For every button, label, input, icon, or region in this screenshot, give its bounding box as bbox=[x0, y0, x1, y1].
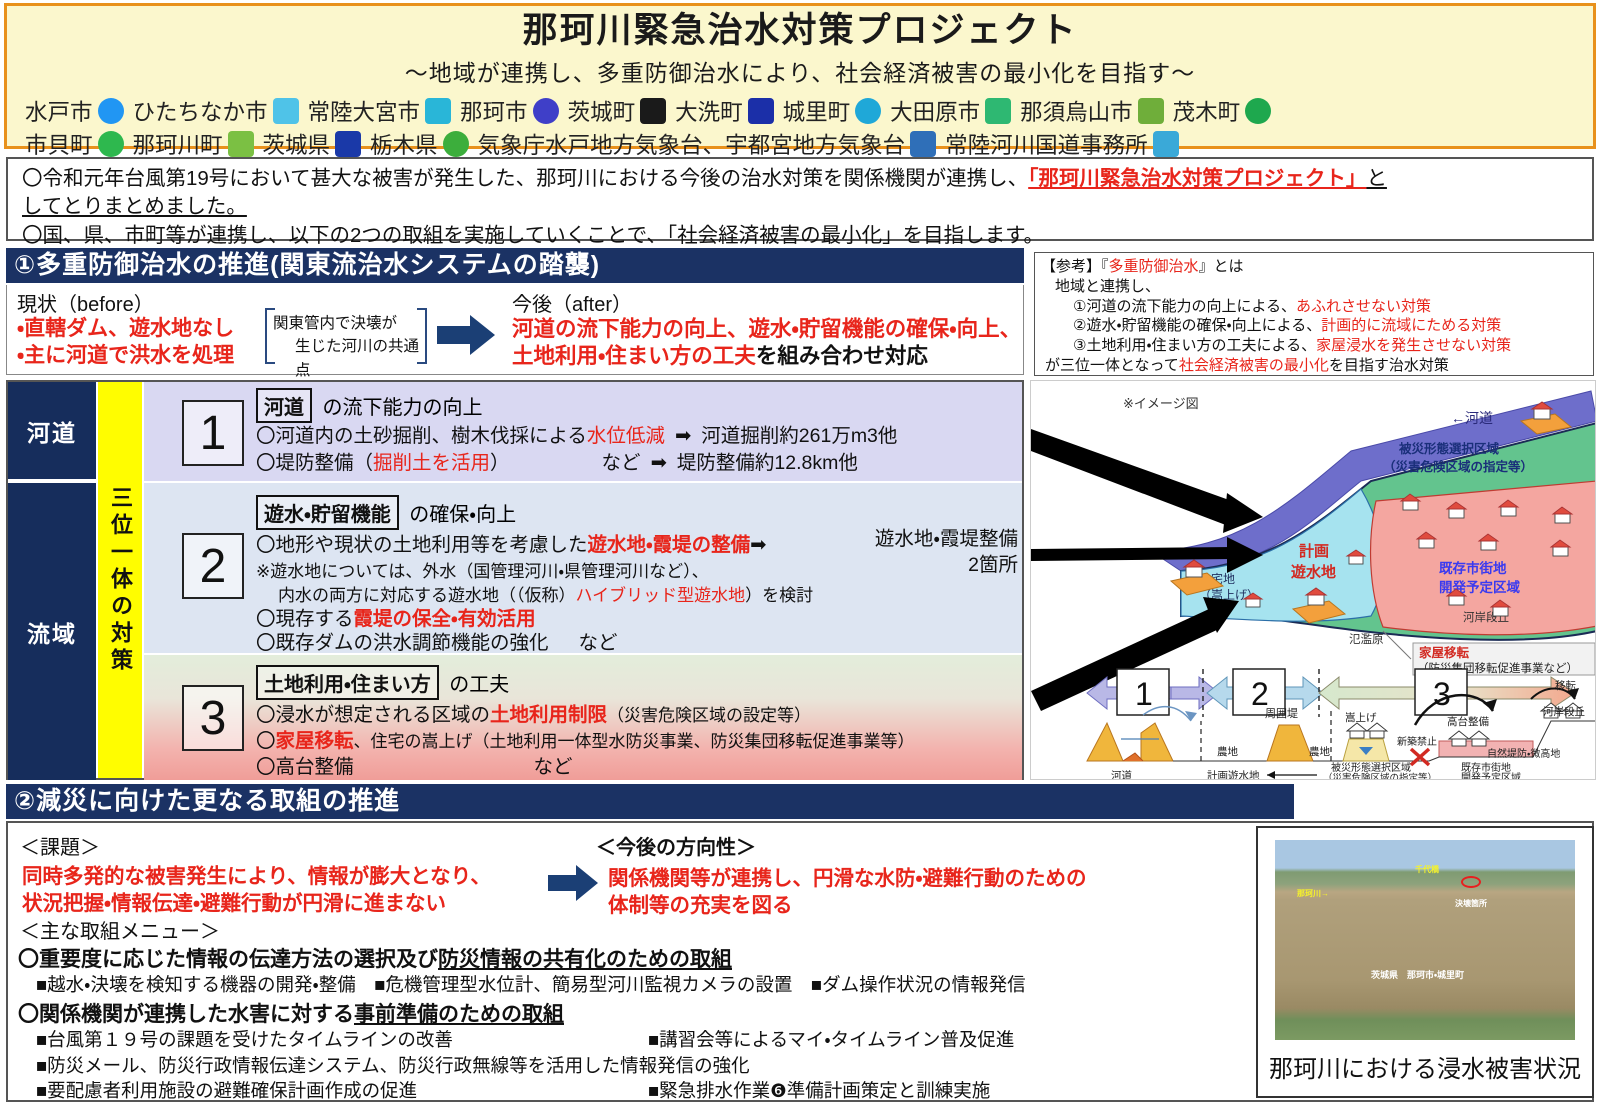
breach-highlight-circle bbox=[1461, 876, 1481, 888]
photo-caption: 那珂川における浸水被害状況 bbox=[1269, 1049, 1581, 1084]
disaster-zone-label-1: 被災形態選択区域 bbox=[1398, 441, 1500, 456]
org-name-motegi-town-logo: 茂木町 bbox=[1173, 95, 1241, 127]
reference-item-2-black: ②遊水・貯留機能の確保・向上による、 bbox=[1073, 317, 1321, 334]
direction-line-1: 関係機関等が連携し、円滑な水防・避難行動のための bbox=[608, 861, 1086, 891]
intro-line-2: してとりまとめました。 bbox=[22, 193, 247, 221]
cs-hisai-zone-2: （災害危険区域の指定等） bbox=[1323, 772, 1437, 780]
reference-lead: 地域と連携し、 bbox=[1041, 277, 1589, 297]
org-name-ibaraki-pref-logo: 茨城県 bbox=[263, 128, 331, 160]
menu-label: ＜主な取組メニュー＞ bbox=[20, 915, 220, 944]
reference-item-3-red: 家屋浸水を発生させない対策 bbox=[1316, 337, 1511, 354]
jma-logo-icon bbox=[910, 131, 936, 157]
measures-table: 河道 流域 三位一体の対策 1 河道 の流下能力の向上 〇河道内の土砂掘削、樹木… bbox=[6, 380, 1024, 780]
section2-banner: ②減災に向けた更なる取組の推進 bbox=[6, 784, 1294, 819]
page-subtitle: 〜地域が連携し、多重防御治水により、社会経済被害の最小化を目指す〜 bbox=[7, 51, 1593, 88]
m1l2-red: 掘削土を活用 bbox=[373, 452, 490, 474]
group2-item-2: ■講習会等によるマイ・タイムライン普及促進 bbox=[648, 1026, 1014, 1052]
measure-row-2: 2 遊水・貯留機能 の確保・向上 〇地形や現状の土地利用等を考慮した遊水地・霞堤… bbox=[144, 483, 1022, 653]
m2l2-black: 〇現存する bbox=[256, 608, 354, 630]
issue-to-direction-arrow-icon bbox=[548, 865, 598, 901]
issue-label: ＜課題＞ bbox=[20, 831, 100, 860]
category-kadou: 河道 bbox=[8, 382, 96, 481]
reference-box: 【参考】『多重防御治水』とは 地域と連携し、 ①河道の流下能力の向上による、あふ… bbox=[1034, 252, 1594, 376]
m2n2-a: 内水の両方に対応する遊水地（（仮称） bbox=[278, 586, 576, 605]
m2l3-black: 〇既存ダムの洪水調節機能の強化 bbox=[256, 632, 549, 654]
disaster-zone-label-2: （災害危険区域の指定等） bbox=[1383, 459, 1533, 474]
naka-city-logo-icon bbox=[533, 98, 559, 124]
zone-number-1: 1 bbox=[1135, 676, 1153, 712]
floodplain-label: 氾濫原 bbox=[1349, 633, 1384, 646]
project-name-highlight: 「那珂川緊急治水対策プロジェクト」 bbox=[1028, 167, 1366, 190]
reference-title: 【参考】『多重防御治水』とは bbox=[1041, 257, 1589, 277]
reference-title-b: 』とは bbox=[1199, 258, 1244, 275]
m2l1-arrow-icon: ➡ bbox=[750, 534, 766, 556]
group2-heading-a: 〇関係機関が連携した水害に対する bbox=[18, 1003, 354, 1026]
photo-breach-label: 決壊箇所 bbox=[1455, 898, 1487, 909]
measure-3-heading: 土地利用・住まい方 の工夫 bbox=[256, 665, 509, 700]
after-line-2-red: 土地利用・住まい方の工夫 bbox=[512, 344, 756, 368]
org-name-tochigi-pref-logo: 栃木県 bbox=[370, 128, 438, 160]
ichikai-town-logo-icon bbox=[98, 131, 124, 157]
measure-row-3: 3 土地利用・住まい方 の工夫 〇浸水が想定される区域の土地利用制限（災害危険区… bbox=[144, 655, 1022, 780]
shirosato-town-logo-icon bbox=[855, 98, 881, 124]
m1l1-red: 水位低減 bbox=[587, 425, 665, 447]
m3l3-black: 〇高台整備 bbox=[256, 756, 354, 778]
logo-row-2: 市貝町那珂川町茨城県栃木県気象庁水戸地方気象台、宇都宮地方気象台常陸河川国道事務… bbox=[25, 127, 1575, 160]
m1l1-black: 〇河道内の土砂掘削、樹木伐採による bbox=[256, 425, 587, 447]
before-item-2: ・主に河道で洪水を処理 bbox=[17, 339, 234, 369]
cs-kizon-2: 開発予定区域 bbox=[1461, 771, 1521, 780]
measure-2-line-3: 〇既存ダムの洪水調節機能の強化など bbox=[256, 631, 618, 657]
existing-town-label-1: 既存市街地 bbox=[1439, 560, 1507, 576]
measure-row-1: 1 河道 の流下能力の向上 〇河道内の土砂掘削、樹木伐採による水位低減➡河道掘削… bbox=[144, 382, 1022, 481]
common-point-bracket: 関東管内で決壊が 生じた河川の共通点 bbox=[265, 308, 427, 364]
measure-1-heading: 河道 の流下能力の向上 bbox=[256, 388, 482, 423]
zone-number-3: 3 bbox=[1433, 676, 1451, 712]
reference-footer-a: が三位一体となって bbox=[1045, 357, 1179, 374]
group2-item-1: ■台風第１９号の課題を受けたタイムラインの改善 bbox=[36, 1026, 453, 1052]
reference-item-2: ②遊水・貯留機能の確保・向上による、計画的に流域にためる対策 bbox=[1041, 316, 1589, 336]
cs-shinchiku-kinshi-label: 新築禁止 bbox=[1397, 735, 1437, 748]
measure-2-result-1: 遊水地・霞堤整備 bbox=[818, 527, 1018, 553]
ibaraki-town-logo-icon bbox=[640, 98, 666, 124]
intro-line-1-b: と bbox=[1366, 167, 1387, 190]
reference-item-1: ①河道の流下能力の向上による、あふれさせない対策 bbox=[1041, 297, 1589, 317]
cs-keikaku-yusuichi-label: 計画遊水地 bbox=[1207, 769, 1260, 780]
reference-item-2-red: 計画的に流域にためる対策 bbox=[1321, 317, 1501, 334]
measure-3-line-3: 〇高台整備など bbox=[256, 755, 573, 781]
measure-2-note-2: 内水の両方に対応する遊水地（（仮称）ハイブリッド型遊水地）を検討 bbox=[278, 585, 813, 608]
intro-box: 〇令和元年台風第19号において甚大な被害が発生した、那珂川における今後の治水対策… bbox=[6, 157, 1594, 241]
m1l1-arrow-icon: ➡ bbox=[675, 425, 691, 447]
org-name-nakagawa-town-logo: 那珂川町 bbox=[133, 128, 223, 160]
issue-line-1: 同時多発的な被害発生により、情報が膨大となり、 bbox=[22, 859, 491, 889]
direction-label: ＜今後の方向性＞ bbox=[596, 831, 756, 860]
org-name-mito-city-logo: 水戸市 bbox=[25, 95, 93, 127]
illustration-svg: ←河道 計画 遊水地 被災形態選択区域 （災害危険区域の指定等） 既存市街地 開… bbox=[1031, 381, 1596, 780]
measure-1-line-1: 〇河道内の土砂掘削、樹木伐採による水位低減➡河道掘削約261万m3他 bbox=[256, 424, 897, 450]
before-item-1: ・直轄ダム、遊水地なし bbox=[17, 312, 234, 342]
m3l1-red: 土地利用制限 bbox=[490, 704, 607, 726]
oarai-town-logo-icon bbox=[748, 98, 774, 124]
intro-line-1-a: 〇令和元年台風第19号において甚大な被害が発生した、那珂川における今後の治水対策… bbox=[22, 167, 1028, 190]
reference-footer-red: 社会経済被害の最小化 bbox=[1179, 357, 1329, 374]
reference-item-1-black: ①河道の流下能力の向上による、 bbox=[1073, 298, 1296, 315]
measure-number-2: 2 bbox=[182, 533, 244, 599]
intro-line-3: 〇国、県、市町等が連携し、以下の2つの取組を実施していくことで、「社会経済被害の… bbox=[22, 222, 1580, 250]
measure-2-box-title: 遊水・貯留機能 bbox=[256, 495, 399, 530]
m3l2-red: 家屋移転 bbox=[276, 730, 354, 752]
org-name-naka-city-logo: 那珂市 bbox=[460, 95, 528, 127]
org-name-oarai-town-logo: 大洗町 bbox=[675, 95, 743, 127]
org-name-hitachinaka-city-logo: ひたちなか市 bbox=[133, 95, 268, 127]
measure-2-line-2: 〇現存する霞堤の保全・有効活用 bbox=[256, 607, 536, 633]
org-name-ibaraki-town-logo: 茨城町 bbox=[568, 95, 636, 127]
measure-3-line-2: 〇家屋移転、住宅の嵩上げ（土地利用一体型水防災事業、防災集団移転促進事業等） bbox=[256, 729, 915, 755]
org-name-hitachi-river-office-logo: 常陸河川国道事務所 bbox=[945, 128, 1148, 160]
org-name-nasukarasuyama-city-logo: 那須烏山市 bbox=[1020, 95, 1133, 127]
group2-heading-underlined: 事前準備のための取組 bbox=[354, 1003, 564, 1026]
group1-heading-underlined: 防災情報の共有化のための取組 bbox=[438, 948, 732, 971]
m2l1-red: 遊水地・霞堤の整備 bbox=[588, 534, 751, 556]
hitachiomiya-city-logo-icon bbox=[425, 98, 451, 124]
m3l1-black: 〇浸水が想定される区域の bbox=[256, 704, 490, 726]
cs-iten-label: 移転 bbox=[1555, 679, 1577, 692]
m1l1-result: 河道掘削約261万m3他 bbox=[701, 425, 897, 447]
measure-3-title-rest: の工夫 bbox=[449, 674, 509, 696]
cs-shizen-teibou-label: 自然堤防・微高地 bbox=[1487, 747, 1560, 760]
measure-rows: 1 河道 の流下能力の向上 〇河道内の土砂掘削、樹木伐採による水位低減➡河道掘削… bbox=[144, 382, 1022, 778]
m2l2-red: 霞堤の保全・有効活用 bbox=[354, 608, 536, 630]
measure-2-note-1: ※遊水地については、外水（国管理河川・県管理河川など）、 bbox=[256, 561, 709, 584]
measure-number-3: 3 bbox=[182, 685, 244, 751]
ibaraki-pref-logo-icon bbox=[335, 131, 361, 157]
m3l3-mid: など bbox=[534, 756, 573, 778]
group1-heading: 〇重要度に応じた情報の伝達方法の選択及び防災情報の共有化のための取組 bbox=[18, 943, 732, 973]
infographic-page: 那珂川緊急治水対策プロジェクト 〜地域が連携し、多重防御治水により、社会経済被害… bbox=[0, 0, 1600, 1108]
m3l1-black2: （災害危険区域の設定等） bbox=[607, 706, 811, 725]
hitachinaka-city-logo-icon bbox=[273, 98, 299, 124]
reference-item-3-black: ③土地利用・住まい方の工夫による、 bbox=[1073, 337, 1316, 354]
m2n2-b: ）を検討 bbox=[745, 586, 813, 605]
photo-river-label: 那珂川→ bbox=[1297, 888, 1329, 899]
cs-shuui-tei-label: 周囲堤 bbox=[1265, 707, 1298, 720]
category-ryuiki: 流域 bbox=[8, 483, 96, 780]
nasukarasuyama-city-logo-icon bbox=[1138, 98, 1164, 124]
category-column: 河道 流域 bbox=[8, 382, 96, 778]
group1-items: ■越水・決壊を検知する機器の開発・整備 ■危機管理型水位計、簡易型河川監視カメラ… bbox=[36, 971, 1026, 997]
org-name-ichikai-town-logo: 市貝町 bbox=[25, 128, 93, 160]
zone-number-2: 2 bbox=[1251, 676, 1269, 712]
measure-3-line-1: 〇浸水が想定される区域の土地利用制限（災害危険区域の設定等） bbox=[256, 703, 811, 729]
group2-item-5: ■緊急排水作業❻準備計画策定と訓練実施 bbox=[648, 1077, 990, 1103]
group2-item-3: ■防災メール、防災行政情報伝達システム、防災行政無線等を活用した情報発信の強化 bbox=[36, 1052, 750, 1078]
reference-item-3: ③土地利用・住まい方の工夫による、家屋浸水を発生させない対策 bbox=[1041, 336, 1589, 356]
m1l2-black2: ） bbox=[490, 452, 510, 474]
reference-item-1-red: あふれさせない対策 bbox=[1296, 298, 1431, 315]
m1l2-black: 〇堤防整備（ bbox=[256, 452, 373, 474]
nakagawa-town-logo-icon bbox=[228, 131, 254, 157]
before-to-after-arrow-icon bbox=[437, 315, 495, 355]
org-name-otawara-city-logo: 大田原市 bbox=[890, 95, 980, 127]
cs-koudai-seibi-label: 高台整備 bbox=[1447, 715, 1489, 728]
flood-photo-box: 那珂川→ 千代橋 決壊箇所 茨城県 那珂市・城里町 那珂川における浸水被害状況 bbox=[1256, 826, 1594, 1098]
issue-line-2: 状況把握・情報伝達・避難行動が円滑に進まない bbox=[22, 886, 446, 916]
cs-kagan-dankyu-label: 河岸段丘 bbox=[1543, 705, 1585, 718]
cs-kasaage-label: 嵩上げ bbox=[1345, 712, 1377, 724]
section1-banner: ①多重防御治水の推進(関東流治水システムの踏襲) bbox=[6, 248, 1024, 283]
motegi-town-logo-icon bbox=[1245, 98, 1271, 124]
measure-1-line-2: 〇堤防整備（掘削土を活用）など➡堤防整備約12.8km他 bbox=[256, 451, 858, 477]
organization-logo-rows: 水戸市ひたちなか市常陸大宮市那珂市茨城町大洗町城里町大田原市那須烏山市茂木町 市… bbox=[7, 88, 1593, 160]
river-label: ←河道 bbox=[1451, 410, 1493, 426]
group2-heading: 〇関係機関が連携した水害に対する事前準備のための取組 bbox=[18, 998, 564, 1028]
intro-line-1: 〇令和元年台風第19号において甚大な被害が発生した、那珂川における今後の治水対策… bbox=[22, 165, 1580, 193]
measure-number-1: 1 bbox=[182, 400, 244, 466]
hitachi-river-office-logo-icon bbox=[1153, 131, 1179, 157]
measure-1-box-title: 河道 bbox=[256, 388, 312, 423]
group2-item-4: ■要配慮者利用施設の避難確保計画作成の促進 bbox=[36, 1077, 417, 1103]
reference-title-a: 【参考】『 bbox=[1041, 258, 1109, 275]
org-name-hitachiomiya-city-logo: 常陸大宮市 bbox=[308, 95, 421, 127]
cs-noudi1-label: 農地 bbox=[1217, 745, 1239, 758]
direction-line-2: 体制等の充実を図る bbox=[608, 888, 793, 918]
group1-heading-a: 〇重要度に応じた情報の伝達方法の選択及び bbox=[18, 948, 438, 971]
plan-pond-label-1: 計画 bbox=[1299, 542, 1329, 560]
reference-footer-b: を目指す治水対策 bbox=[1329, 357, 1449, 374]
logo-row-1: 水戸市ひたちなか市常陸大宮市那珂市茨城町大洗町城里町大田原市那須烏山市茂木町 bbox=[25, 94, 1575, 127]
m3l2-black: 〇 bbox=[256, 730, 276, 752]
cs-noudi2-label: 農地 bbox=[1309, 745, 1331, 758]
m1l2-result: 堤防整備約12.8km他 bbox=[677, 452, 858, 474]
measure-2-heading: 遊水・貯留機能 の確保・向上 bbox=[256, 495, 516, 530]
cs-kadou-label: 河道 bbox=[1111, 769, 1133, 780]
measure-2-line-1: 〇地形や現状の土地利用等を考慮した遊水地・霞堤の整備➡ bbox=[256, 533, 767, 559]
m1l2-mid: など bbox=[602, 452, 641, 474]
after-line-2: 土地利用・住まい方の工夫を組み合わせ対応 bbox=[512, 339, 928, 370]
m2n2-red: ハイブリッド型遊水地 bbox=[576, 586, 746, 605]
reference-footer: が三位一体となって社会経済被害の最小化を目指す治水対策 bbox=[1041, 356, 1589, 376]
plan-pond-label-2: 遊水地 bbox=[1291, 563, 1336, 581]
measure-2-result-2: 2箇所 bbox=[818, 553, 1018, 579]
photo-bridge-label: 千代橋 bbox=[1415, 864, 1439, 875]
m2l3-mid: など bbox=[579, 632, 618, 654]
mito-city-logo-icon bbox=[98, 98, 124, 124]
measure-2-title-rest: の確保・向上 bbox=[409, 504, 516, 526]
page-title: 那珂川緊急治水対策プロジェクト bbox=[7, 6, 1593, 51]
reference-title-red: 多重防御治水 bbox=[1109, 258, 1199, 275]
measure-3-box-title: 土地利用・住まい方 bbox=[256, 665, 439, 700]
before-after-box: 現状（before） ・直轄ダム、遊水地なし ・主に河道で洪水を処理 今後（af… bbox=[6, 285, 1024, 375]
illustration-note: ※イメージ図 bbox=[1123, 393, 1199, 412]
otawara-city-logo-icon bbox=[985, 98, 1011, 124]
trinity-label-column: 三位一体の対策 bbox=[98, 382, 142, 778]
relocation-label-1: 家屋移転 bbox=[1419, 645, 1470, 660]
concept-illustration: ※イメージ図 ←河道 計画 遊水地 被災形態選択区域 （災害危険区域の指定等） … bbox=[1030, 380, 1596, 780]
org-name-shirosato-town-logo: 城里町 bbox=[783, 95, 851, 127]
tochigi-pref-logo-icon bbox=[443, 131, 469, 157]
m3l2-black2: 、住宅の嵩上げ（土地利用一体型水防災事業、防災集団移転促進事業等） bbox=[354, 732, 915, 751]
after-line-2-black: を組み合わせ対応 bbox=[756, 344, 928, 368]
photo-location-label: 茨城県 那珂市・城里町 bbox=[1371, 968, 1464, 981]
bracket-line-2: 生じた河川の共通点 bbox=[273, 335, 423, 382]
m1l2-arrow-icon: ➡ bbox=[651, 452, 667, 474]
flood-photo: 那珂川→ 千代橋 決壊箇所 茨城県 那珂市・城里町 bbox=[1275, 840, 1575, 1040]
bracket-line-1: 関東管内で決壊が bbox=[273, 312, 423, 335]
page-header: 那珂川緊急治水対策プロジェクト 〜地域が連携し、多重防御治水により、社会経済被害… bbox=[4, 3, 1596, 149]
org-name-jma-logo: 気象庁水戸地方気象台、宇都宮地方気象台 bbox=[478, 128, 906, 160]
m2l1-black: 〇地形や現状の土地利用等を考慮した bbox=[256, 534, 588, 556]
measure-1-title-rest: の流下能力の向上 bbox=[322, 397, 482, 419]
trinity-label: 三位一体の対策 bbox=[104, 486, 136, 675]
